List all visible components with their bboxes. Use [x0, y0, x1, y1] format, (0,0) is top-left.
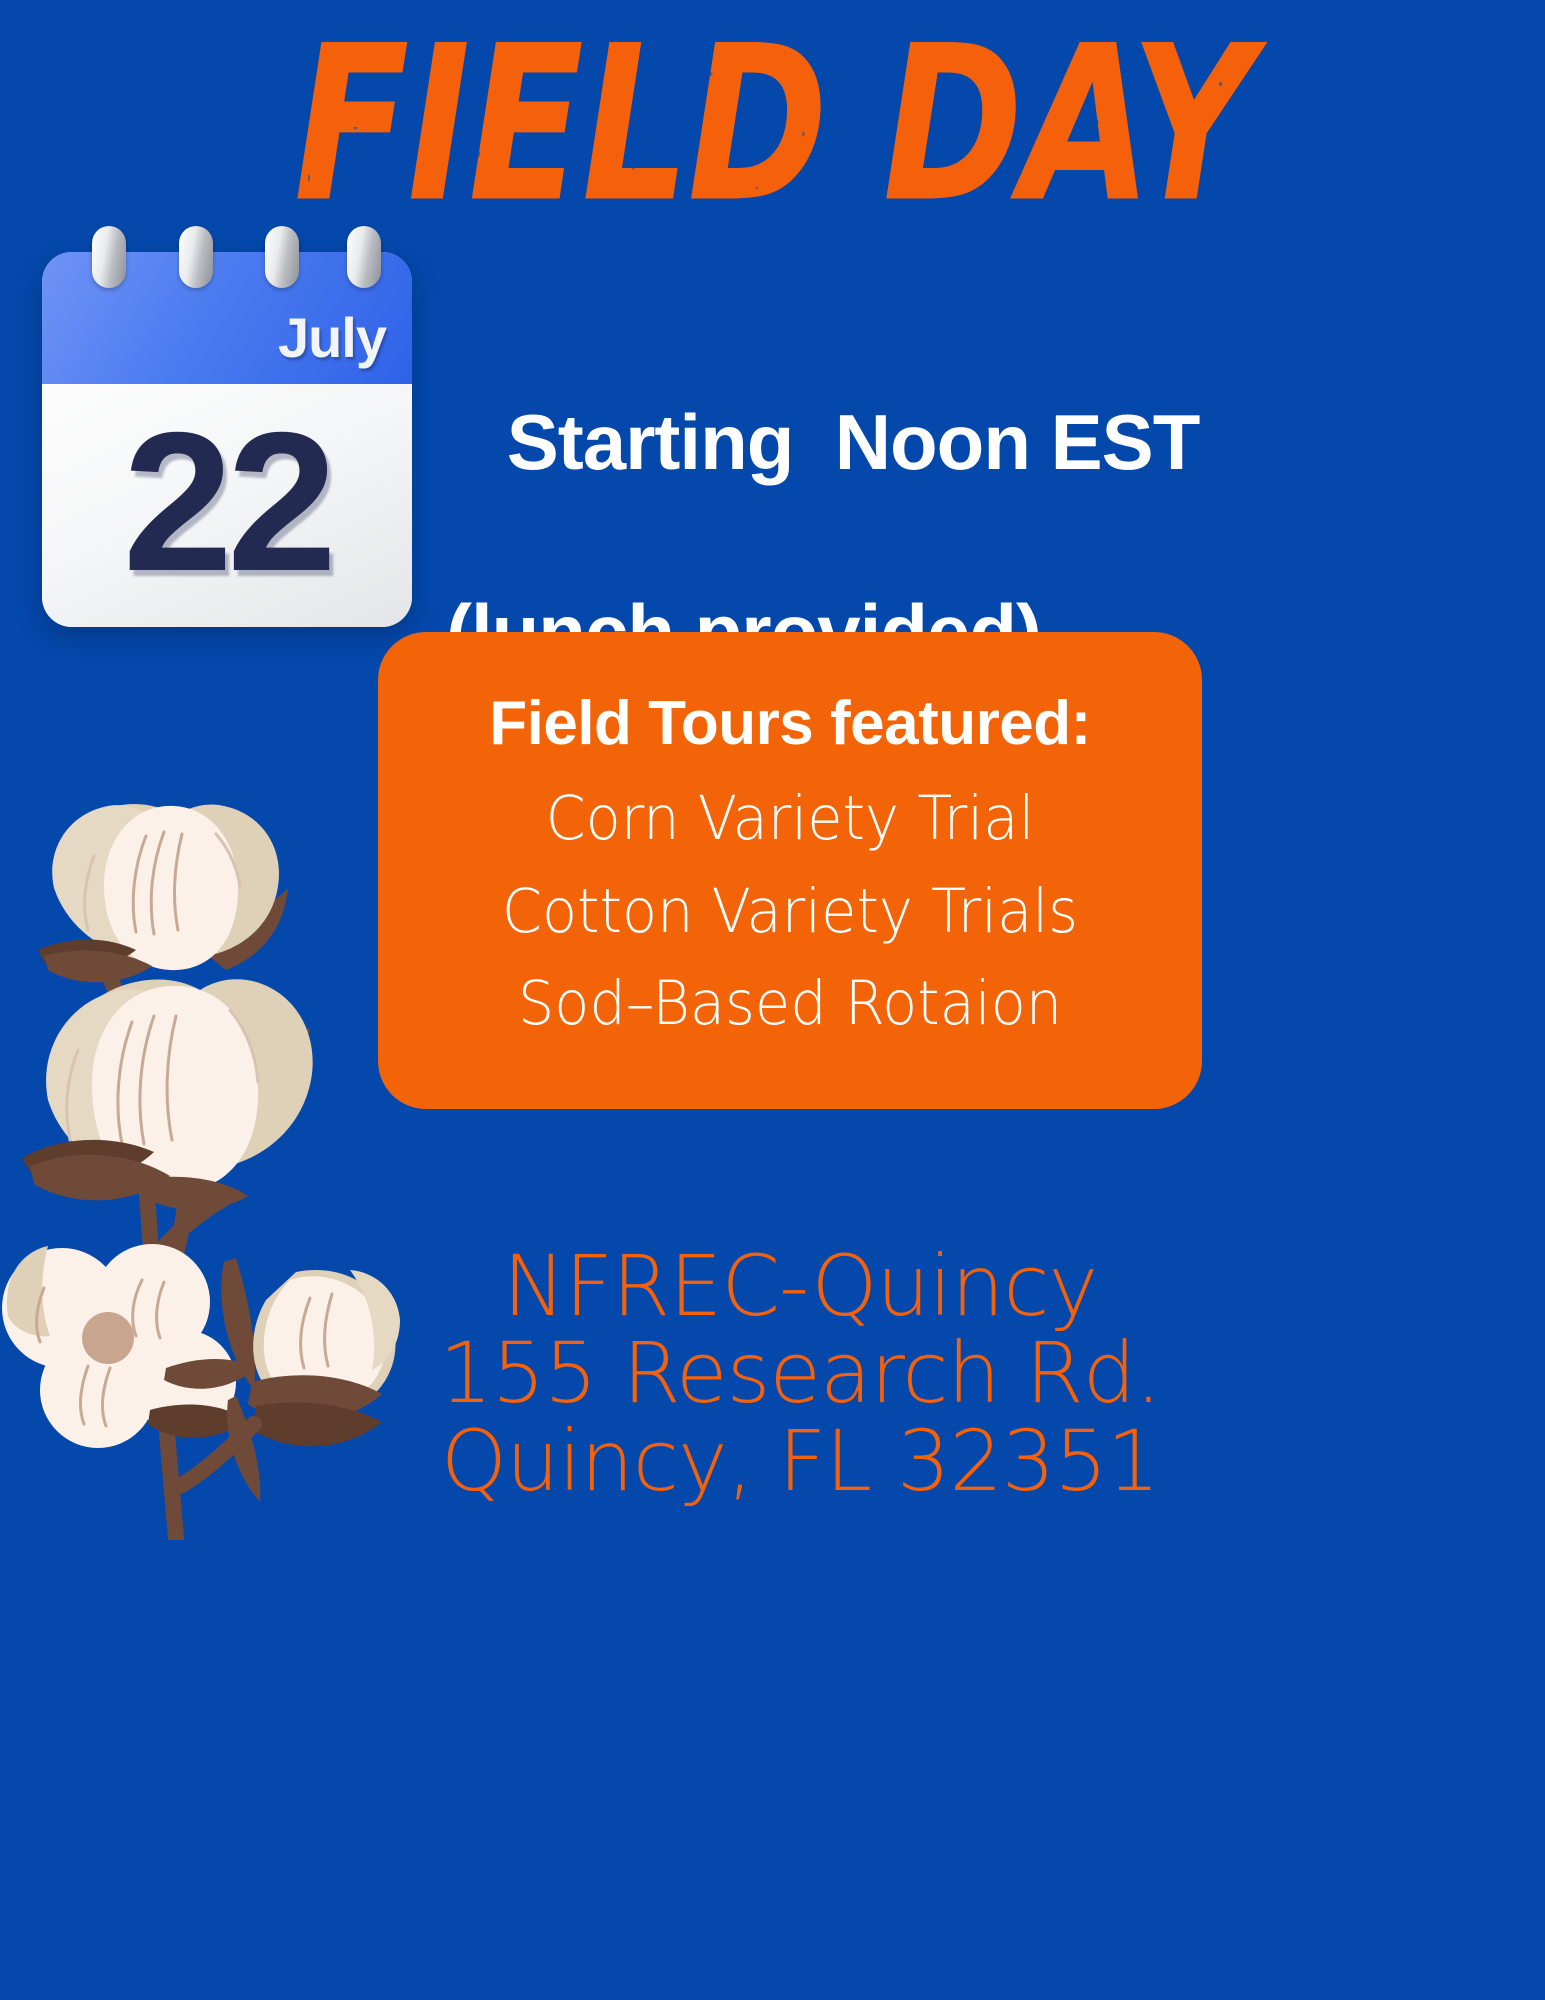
calendar-month-label: July — [278, 305, 386, 370]
calendar-body: July 22 — [42, 252, 412, 627]
address-line-1: NFREC-Quincy — [420, 1243, 1180, 1330]
address-line-2: 155 Research Rd. — [420, 1330, 1180, 1417]
calendar-face: 22 — [42, 384, 412, 627]
cotton-plant-illustration: .bract{fill:#6F4A38;} .bract-d{fill:#5E3… — [0, 760, 400, 1540]
calendar-ring-1 — [92, 226, 126, 288]
calendar-ring-3 — [265, 226, 299, 288]
calendar-rings — [42, 226, 412, 286]
list-item: Sod–Based Rotaion — [435, 958, 1146, 1051]
list-item: Corn Variety Trial — [435, 773, 1146, 866]
calendar-ring-4 — [347, 226, 381, 288]
field-tours-panel: Field Tours featured: Corn Variety Trial… — [378, 632, 1202, 1109]
field-tours-heading: Field Tours featured: — [412, 688, 1168, 759]
cotton-boll-top — [38, 804, 288, 982]
venue-address: NFREC-Quincy 155 Research Rd. Quincy, FL… — [420, 1243, 1180, 1505]
page-title: FIELD DAY — [294, 18, 1251, 233]
address-line-3: Quincy, FL 32351 — [420, 1418, 1180, 1505]
list-item: Cotton Variety Trials — [435, 866, 1146, 959]
calendar-icon: July 22 — [42, 252, 412, 627]
poster-title-wrap: FIELD DAY — [0, 18, 1545, 194]
calendar-ring-2 — [179, 226, 213, 288]
field-tours-list: Corn Variety Trial Cotton Variety Trials… — [412, 773, 1168, 1051]
poster-canvas: FIELD DAY July 22 Starting Noon EST (lun… — [0, 0, 1545, 2000]
headline-line-1: Starting Noon EST — [507, 398, 1200, 486]
cotton-flower-cluster — [2, 1244, 256, 1448]
calendar-day-number: 22 — [123, 417, 331, 587]
